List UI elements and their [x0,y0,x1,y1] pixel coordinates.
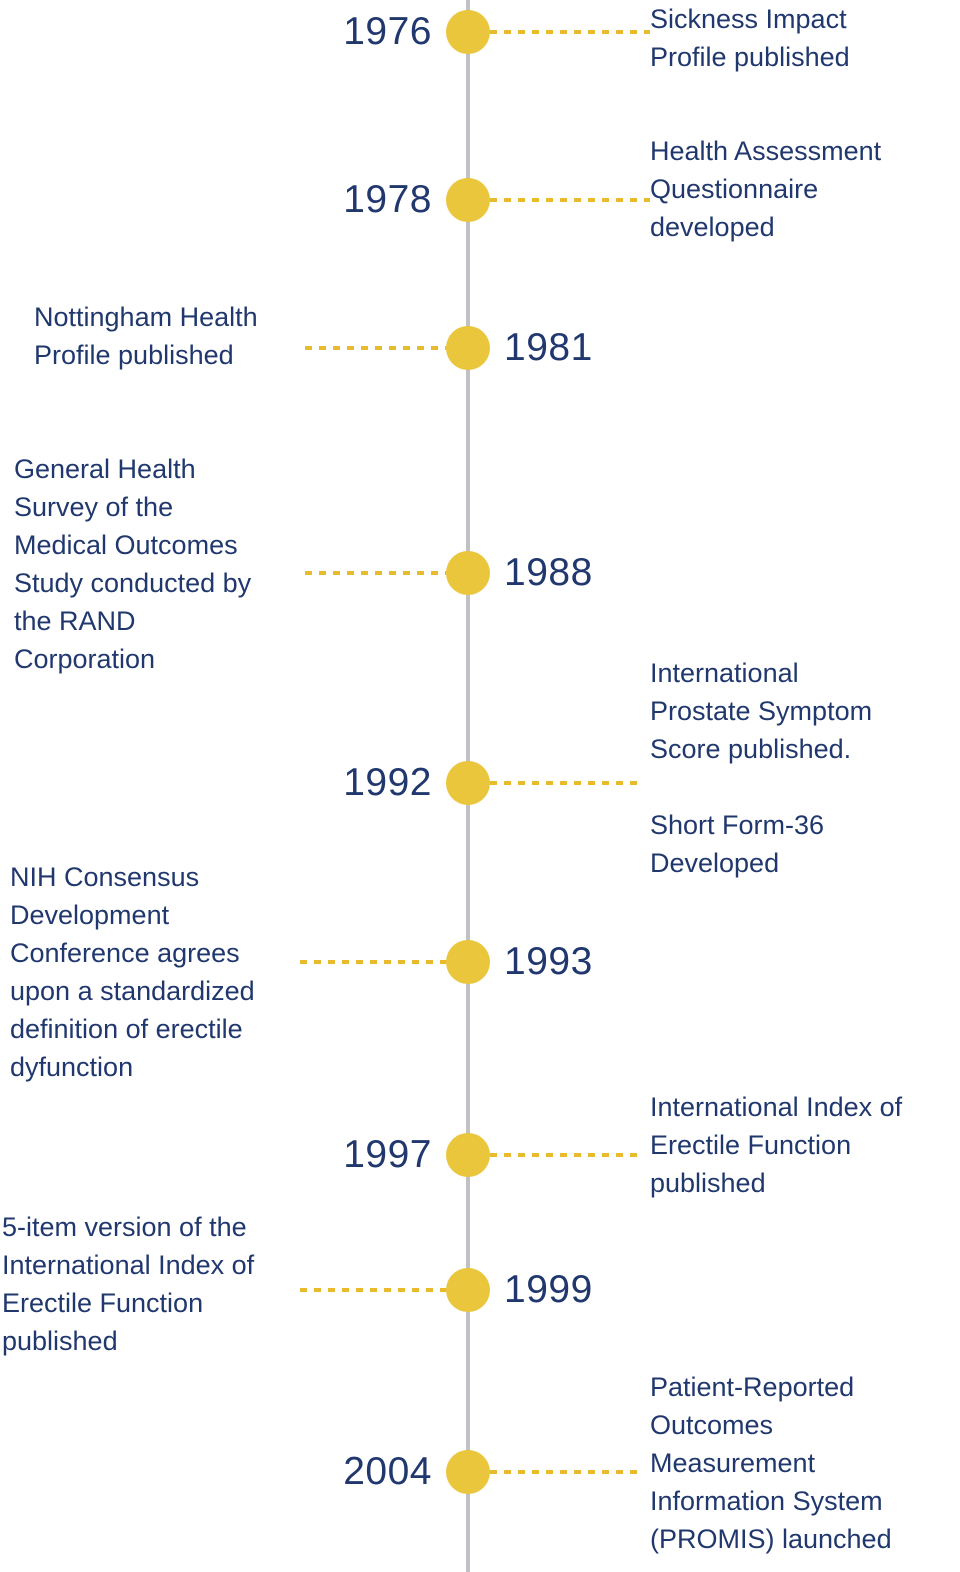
event-line: Conference agrees [10,934,310,972]
connector-dotted-line [490,1153,642,1157]
event-description-1976: Sickness Impact Profile published [650,0,960,76]
event-line: Score published. [650,730,960,768]
year-label-1981: 1981 [504,322,593,374]
event-line: the RAND [14,602,314,640]
event-line: Short Form-36 [650,806,960,844]
event-line: Medical Outcomes [14,526,314,564]
event-line: Study conducted by [14,564,314,602]
event-description-1997: International Index of Erectile Function… [650,1088,960,1202]
connector-dotted-line [300,1288,447,1292]
event-line: International Index of [2,1246,312,1284]
event-description-1992-b: Short Form-36 Developed [650,806,960,882]
year-label-1988: 1988 [504,547,593,599]
event-line: Developed [650,844,960,882]
event-line: published [2,1322,312,1360]
event-line: Erectile Function [2,1284,312,1322]
year-label-1992: 1992 [0,757,432,809]
connector-dotted-line [490,1470,642,1474]
connector-dotted-line [300,960,447,964]
event-description-1993: NIH Consensus Development Conference agr… [10,858,310,1086]
event-line: Prostate Symptom [650,692,960,730]
year-label-1997: 1997 [0,1129,432,1181]
timeline-diagram: 1976 Sickness Impact Profile published 1… [0,0,960,1572]
connector-dotted-line [305,571,447,575]
event-line: 5-item version of the [2,1208,312,1246]
connector-dotted-line [490,30,650,34]
timeline-node-dot[interactable] [446,326,490,370]
event-line: NIH Consensus [10,858,310,896]
event-description-2004: Patient-Reported Outcomes Measurement In… [650,1368,960,1558]
event-line: Sickness Impact [650,0,960,38]
timeline-node-dot[interactable] [446,1268,490,1312]
event-line: definition of erectile [10,1010,310,1048]
event-description-1981: Nottingham Health Profile published [34,298,314,374]
event-description-1992-a: International Prostate Symptom Score pub… [650,654,960,768]
event-description-1978: Health Assessment Questionnaire develope… [650,132,960,246]
event-line: Profile published [34,336,314,374]
event-line: Corporation [14,640,314,678]
event-line: Questionnaire [650,170,960,208]
event-line: dyfunction [10,1048,310,1086]
event-line: International [650,654,960,692]
event-line: Health Assessment [650,132,960,170]
event-line: Survey of the [14,488,314,526]
event-line: General Health [14,450,314,488]
event-line: Nottingham Health [34,298,314,336]
connector-dotted-line [490,781,642,785]
event-line: Outcomes [650,1406,960,1444]
year-label-2004: 2004 [0,1446,432,1498]
year-label-1993: 1993 [504,936,593,988]
event-line: (PROMIS) launched [650,1520,960,1558]
year-label-1999: 1999 [504,1264,593,1316]
event-line: upon a standardized [10,972,310,1010]
timeline-node-dot[interactable] [446,1450,490,1494]
event-line: Patient-Reported [650,1368,960,1406]
event-description-1988: General Health Survey of the Medical Out… [14,450,314,678]
timeline-node-dot[interactable] [446,1133,490,1177]
event-line: Measurement [650,1444,960,1482]
event-line: developed [650,208,960,246]
event-description-1999: 5-item version of the International Inde… [2,1208,312,1360]
year-label-1976: 1976 [0,6,432,58]
event-line: Information System [650,1482,960,1520]
year-label-1978: 1978 [0,174,432,226]
event-line: Profile published [650,38,960,76]
timeline-node-dot[interactable] [446,761,490,805]
event-line: Development [10,896,310,934]
connector-dotted-line [490,198,650,202]
event-line: Erectile Function [650,1126,960,1164]
timeline-node-dot[interactable] [446,178,490,222]
timeline-node-dot[interactable] [446,551,490,595]
timeline-node-dot[interactable] [446,10,490,54]
event-line: International Index of [650,1088,960,1126]
event-line: published [650,1164,960,1202]
timeline-node-dot[interactable] [446,940,490,984]
connector-dotted-line [305,346,447,350]
